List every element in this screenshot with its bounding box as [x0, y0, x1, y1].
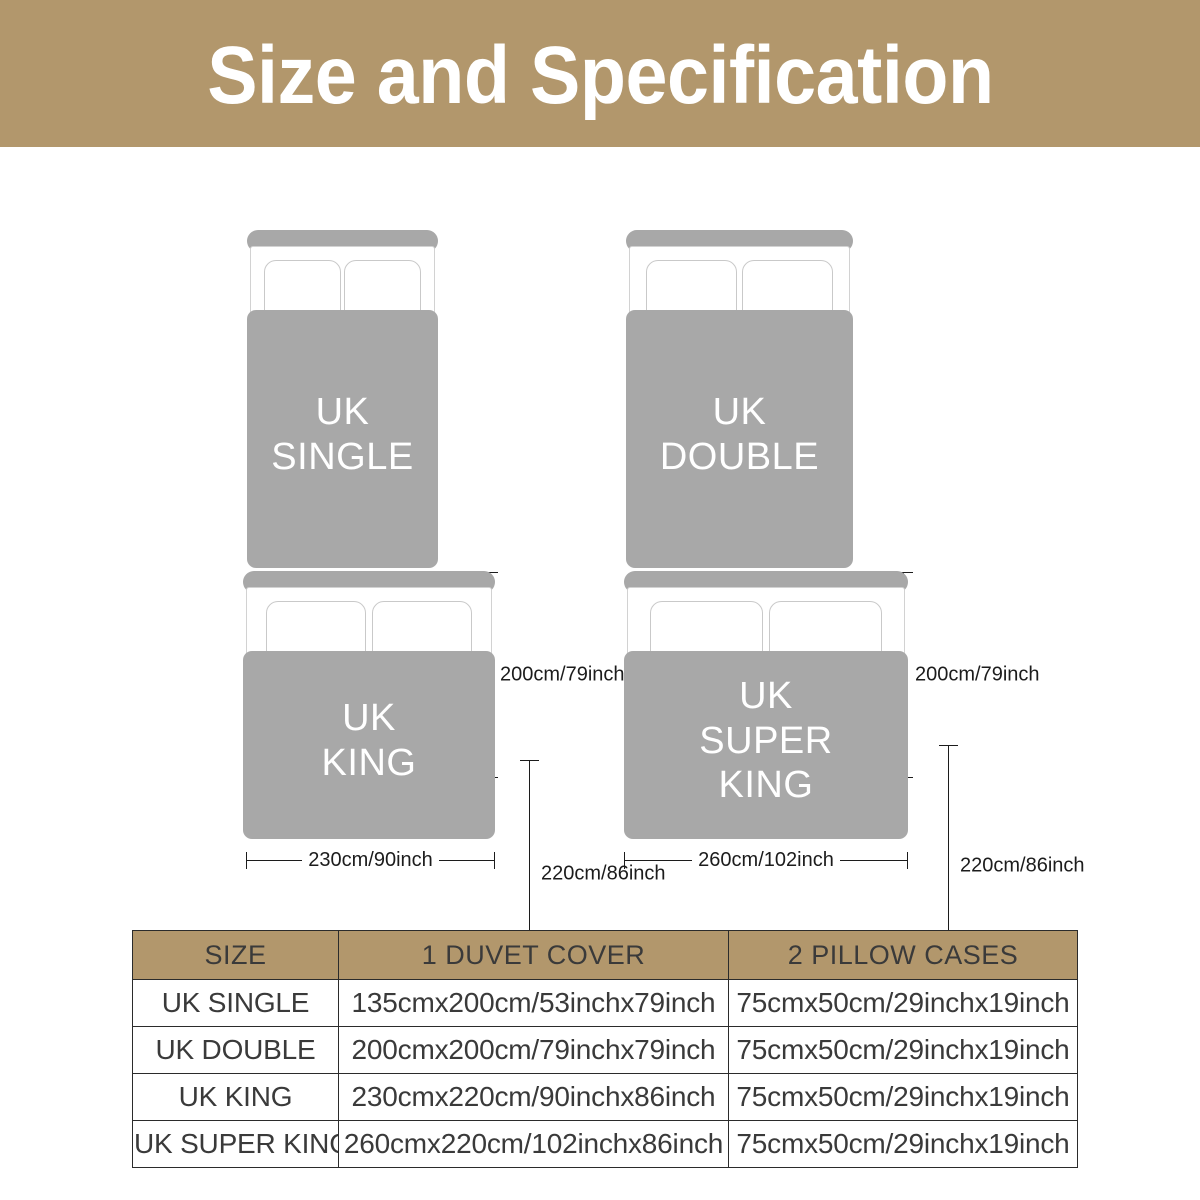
bed-illustration: UK KING — [243, 571, 495, 839]
width-dimension-line: 260cm/102inch — [624, 860, 908, 861]
bed-size-diagram-area: UK SINGLE 135cm/53inch 200cm/79inch UK D… — [0, 147, 1200, 917]
duvet-cover: UK SUPER KING — [624, 651, 908, 839]
width-dimension-label: 260cm/102inch — [692, 849, 840, 872]
cell-duvet-cover: 135cmx200cm/53inchx79inch — [339, 980, 729, 1027]
table-row: UK SINGLE 135cmx200cm/53inchx79inch 75cm… — [133, 980, 1078, 1027]
width-dimension-line: 230cm/90inch — [246, 860, 495, 861]
table-row: UK KING 230cmx220cm/90inchx86inch 75cmx5… — [133, 1074, 1078, 1121]
cell-duvet-cover: 200cmx200cm/79inchx79inch — [339, 1027, 729, 1074]
column-header-duvet-cover: 1 DUVET COVER — [339, 931, 729, 980]
bed-illustration: UK SINGLE — [247, 230, 438, 568]
height-dimension-label: 200cm/79inch — [497, 662, 628, 689]
cell-pillow-cases: 75cmx50cm/29inchx19inch — [729, 1027, 1078, 1074]
duvet-cover: UK KING — [243, 651, 495, 839]
page-title: Size and Specification — [207, 31, 993, 117]
height-dimension-label: 200cm/79inch — [912, 662, 1043, 689]
column-header-pillow-cases: 2 PILLOW CASES — [729, 931, 1078, 980]
bed-diagram-uk-super-king: UK SUPER KING 260cm/102inch — [624, 571, 908, 869]
cell-size: UK DOUBLE — [133, 1027, 339, 1074]
bed-diagram-uk-king: UK KING 230cm/90inch — [243, 571, 495, 869]
size-specification-table: SIZE 1 DUVET COVER 2 PILLOW CASES UK SIN… — [132, 930, 1078, 1168]
cell-pillow-cases: 75cmx50cm/29inchx19inch — [729, 980, 1078, 1027]
cell-pillow-cases: 75cmx50cm/29inchx19inch — [729, 1074, 1078, 1121]
page-header-band: Size and Specification — [0, 0, 1200, 147]
height-dimension-label: 220cm/86inch — [957, 853, 1088, 880]
duvet-cover: UK SINGLE — [247, 310, 438, 568]
bed-illustration: UK SUPER KING — [624, 571, 908, 839]
duvet-cover: UK DOUBLE — [626, 310, 853, 568]
bed-size-label: UK KING — [322, 696, 417, 786]
cell-duvet-cover: 260cmx220cm/102inchx86inch — [339, 1121, 729, 1168]
column-header-size: SIZE — [133, 931, 339, 980]
table-row: UK SUPER KING 260cmx220cm/102inchx86inch… — [133, 1121, 1078, 1168]
bed-size-label: UK SUPER KING — [699, 674, 832, 808]
width-dimension-label: 230cm/90inch — [302, 849, 439, 872]
bed-size-label: UK SINGLE — [271, 390, 413, 480]
bed-illustration: UK DOUBLE — [626, 230, 853, 568]
bed-size-label: UK DOUBLE — [660, 390, 819, 480]
cell-size: UK SINGLE — [133, 980, 339, 1027]
cell-pillow-cases: 75cmx50cm/29inchx19inch — [729, 1121, 1078, 1168]
table-header-row: SIZE 1 DUVET COVER 2 PILLOW CASES — [133, 931, 1078, 980]
cell-size: UK KING — [133, 1074, 339, 1121]
cell-duvet-cover: 230cmx220cm/90inchx86inch — [339, 1074, 729, 1121]
table-row: UK DOUBLE 200cmx200cm/79inchx79inch 75cm… — [133, 1027, 1078, 1074]
cell-size: UK SUPER KING — [133, 1121, 339, 1168]
